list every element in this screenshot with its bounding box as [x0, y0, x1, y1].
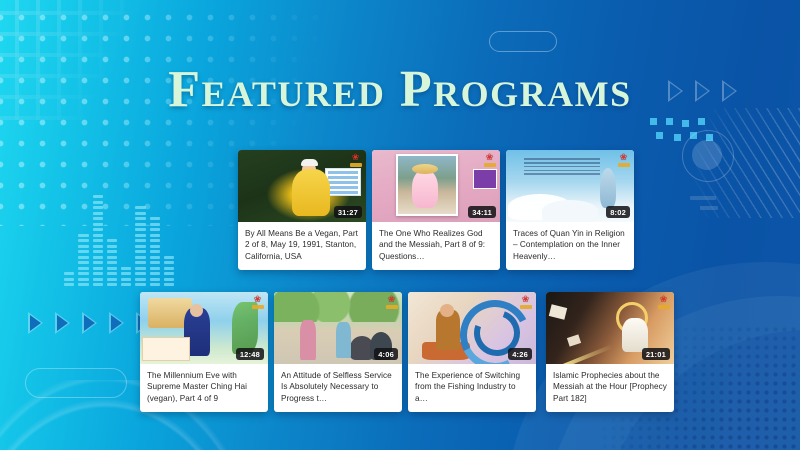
- logo-flower-icon: ❀: [660, 295, 668, 304]
- logo-wordmark: [252, 305, 264, 309]
- equalizer-segment: [135, 223, 145, 226]
- program-card[interactable]: ❀4:06An Attitude of Selfless Service Is …: [274, 292, 402, 412]
- equalizer-segment: [121, 267, 131, 270]
- program-thumbnail[interactable]: ❀8:02: [506, 150, 634, 222]
- featured-programs-screen: Featured Programs ❀31:27By All Means Be …: [0, 0, 800, 450]
- equalizer-segment: [64, 272, 74, 275]
- program-card-body: The One Who Realizes God and the Messiah…: [372, 222, 500, 270]
- logo-wordmark: [658, 305, 670, 309]
- logo-flower-icon: ❀: [388, 295, 396, 304]
- artwork-shape: [301, 159, 318, 166]
- equalizer-segment: [150, 267, 160, 270]
- duration-badge: 4:06: [374, 348, 398, 360]
- logo-flower-icon: ❀: [620, 153, 628, 162]
- channel-logo-icon: ❀: [384, 295, 399, 309]
- logo-wordmark: [520, 305, 532, 309]
- square-dot: [650, 118, 657, 125]
- artwork-shape: [412, 170, 438, 208]
- program-card[interactable]: ❀34:11The One Who Realizes God and the M…: [372, 150, 500, 270]
- program-card-body: Islamic Prophecies about the Messiah at …: [546, 364, 674, 412]
- program-thumbnail[interactable]: ❀12:48: [140, 292, 268, 364]
- equalizer-segment: [107, 283, 117, 286]
- logo-wordmark: [484, 163, 496, 167]
- duration-badge: 4:26: [508, 348, 532, 360]
- equalizer-segment: [135, 272, 145, 275]
- equalizer-segment: [93, 267, 103, 270]
- logo-flower-icon: ❀: [486, 153, 494, 162]
- equalizer-segment: [93, 278, 103, 281]
- equalizer-segment: [135, 267, 145, 270]
- artwork-shape: [524, 156, 600, 186]
- equalizer-segment: [78, 256, 88, 259]
- equalizer-segment: [164, 283, 174, 286]
- duration-badge: 12:48: [236, 348, 264, 360]
- channel-logo-icon: ❀: [518, 295, 533, 309]
- channel-logo-icon: ❀: [250, 295, 265, 309]
- equalizer-segment: [135, 206, 145, 209]
- equalizer-segment: [164, 278, 174, 281]
- equalizer-segment: [78, 283, 88, 286]
- equalizer-segment: [107, 272, 117, 275]
- program-card[interactable]: ❀12:48The Millennium Eve with Supreme Ma…: [140, 292, 268, 412]
- equalizer-segment: [78, 250, 88, 253]
- program-card-body: Traces of Quan Yin in Religion – Contemp…: [506, 222, 634, 270]
- equalizer-column: [93, 195, 103, 286]
- program-thumbnail[interactable]: ❀21:01: [546, 292, 674, 364]
- program-card[interactable]: ❀8:02Traces of Quan Yin in Religion – Co…: [506, 150, 634, 270]
- equalizer-segment: [93, 212, 103, 215]
- program-title: By All Means Be a Vegan, Part 2 of 8, Ma…: [245, 228, 359, 262]
- equalizer-segment: [78, 278, 88, 281]
- artwork-shape: [142, 337, 190, 361]
- equalizer-segment: [164, 267, 174, 270]
- logo-wordmark: [618, 163, 630, 167]
- play-triangle-icon: [82, 312, 97, 334]
- play-triangle-icon: [55, 312, 70, 334]
- artwork-shape: [325, 168, 361, 196]
- equalizer-segment: [135, 239, 145, 242]
- equalizer-segment: [135, 261, 145, 264]
- equalizer-segment: [93, 245, 103, 248]
- circle-ring-decoration: [682, 130, 734, 182]
- equalizer-segment: [78, 239, 88, 242]
- equalizer-segment: [150, 234, 160, 237]
- equalizer-segment: [121, 278, 131, 281]
- artwork-shape: [622, 318, 648, 352]
- program-title: An Attitude of Selfless Service Is Absol…: [281, 370, 395, 404]
- program-thumbnail[interactable]: ❀31:27: [238, 150, 366, 222]
- equalizer-segment: [135, 234, 145, 237]
- equalizer-segment: [164, 272, 174, 275]
- program-thumbnail[interactable]: ❀4:26: [408, 292, 536, 364]
- equalizer-segment: [150, 261, 160, 264]
- equalizer-segment: [78, 272, 88, 275]
- square-dots-decoration: [650, 118, 720, 152]
- equalizer-segment: [93, 283, 103, 286]
- equalizer-segment: [135, 245, 145, 248]
- equalizer-segment: [150, 239, 160, 242]
- logo-flower-icon: ❀: [522, 295, 530, 304]
- artwork-shape: [567, 334, 581, 346]
- program-card-body: The Millennium Eve with Supreme Master C…: [140, 364, 268, 412]
- program-card-body: An Attitude of Selfless Service Is Absol…: [274, 364, 402, 412]
- duration-badge: 34:11: [468, 206, 496, 218]
- equalizer-segment: [107, 250, 117, 253]
- circle-fill-decoration: [692, 140, 722, 170]
- equalizer-segment: [150, 272, 160, 275]
- channel-logo-icon: ❀: [348, 153, 363, 167]
- channel-logo-icon: ❀: [616, 153, 631, 167]
- program-card[interactable]: ❀21:01Islamic Prophecies about the Messi…: [546, 292, 674, 412]
- equalizer-segment: [150, 250, 160, 253]
- equalizer-segment: [93, 201, 103, 204]
- square-dot: [706, 134, 713, 141]
- dash-decoration: [700, 206, 718, 210]
- equalizer-segment: [135, 278, 145, 281]
- program-card[interactable]: ❀31:27By All Means Be a Vegan, Part 2 of…: [238, 150, 366, 270]
- equalizer-segment: [121, 283, 131, 286]
- equalizer-segment: [135, 256, 145, 259]
- equalizer-segment: [93, 217, 103, 220]
- program-thumbnail[interactable]: ❀4:06: [274, 292, 402, 364]
- equalizer-segment: [93, 256, 103, 259]
- equalizer-column: [135, 206, 145, 286]
- program-title: The Experience of Switching from the Fis…: [415, 370, 529, 404]
- program-thumbnail[interactable]: ❀34:11: [372, 150, 500, 222]
- artwork-shape: [190, 304, 203, 317]
- logo-wordmark: [350, 163, 362, 167]
- program-card-body: By All Means Be a Vegan, Part 2 of 8, Ma…: [238, 222, 366, 270]
- artwork-shape: [542, 200, 598, 222]
- channel-logo-icon: ❀: [482, 153, 497, 167]
- equalizer-segment: [107, 278, 117, 281]
- equalizer-segment: [93, 206, 103, 209]
- artwork-shape: [563, 344, 613, 364]
- artwork-shape: [300, 320, 316, 360]
- equalizer-column: [164, 256, 174, 287]
- logo-flower-icon: ❀: [254, 295, 262, 304]
- equalizer-column: [107, 239, 117, 286]
- artwork-shape: [232, 302, 258, 354]
- equalizer-segment: [164, 256, 174, 259]
- equalizer-segment: [107, 267, 117, 270]
- equalizer-segment: [93, 234, 103, 237]
- play-triangle-icon: [109, 312, 124, 334]
- program-title: The One Who Realizes God and the Messiah…: [379, 228, 493, 262]
- diagonal-hatch-decoration: [686, 108, 800, 218]
- artwork-shape: [549, 304, 567, 320]
- square-dot: [656, 132, 663, 139]
- equalizer-segment: [150, 228, 160, 231]
- equalizer-segment: [150, 278, 160, 281]
- square-dot: [690, 132, 697, 139]
- logo-wordmark: [386, 305, 398, 309]
- equalizer-segment: [121, 272, 131, 275]
- artwork-shape: [412, 164, 438, 174]
- dash-decoration: [690, 196, 716, 200]
- program-title: Islamic Prophecies about the Messiah at …: [553, 370, 667, 404]
- equalizer-segment: [164, 261, 174, 264]
- equalizer-segment: [93, 250, 103, 253]
- equalizer-segment: [135, 217, 145, 220]
- equalizer-segment: [78, 234, 88, 237]
- equalizer-segment: [150, 223, 160, 226]
- equalizer-segment: [64, 278, 74, 281]
- program-title: Traces of Quan Yin in Religion – Contemp…: [513, 228, 627, 262]
- equalizer-segment: [93, 272, 103, 275]
- square-dot: [682, 120, 689, 127]
- logo-flower-icon: ❀: [352, 153, 360, 162]
- duration-badge: 8:02: [606, 206, 630, 218]
- equalizer-bars-decoration: [64, 178, 174, 286]
- equalizer-segment: [107, 239, 117, 242]
- page-title: Featured Programs: [0, 60, 800, 119]
- equalizer-segment: [107, 261, 117, 264]
- equalizer-column: [121, 267, 131, 287]
- equalizer-segment: [78, 261, 88, 264]
- artwork-shape: [274, 292, 402, 322]
- artwork-shape: [440, 304, 454, 317]
- equalizer-segment: [107, 245, 117, 248]
- pill-outline-bottom: [25, 368, 127, 398]
- equalizer-segment: [78, 267, 88, 270]
- play-triangle-row-left: [28, 312, 151, 334]
- artwork-shape: [473, 169, 497, 189]
- equalizer-segment: [93, 223, 103, 226]
- channel-logo-icon: ❀: [656, 295, 671, 309]
- program-card[interactable]: ❀4:26The Experience of Switching from th…: [408, 292, 536, 412]
- equalizer-column: [150, 217, 160, 286]
- artwork-shape: [336, 322, 351, 358]
- equalizer-segment: [107, 256, 117, 259]
- equalizer-segment: [135, 212, 145, 215]
- square-dot: [674, 134, 681, 141]
- equalizer-segment: [93, 195, 103, 198]
- equalizer-column: [78, 234, 88, 287]
- equalizer-segment: [135, 228, 145, 231]
- equalizer-segment: [78, 245, 88, 248]
- equalizer-segment: [93, 239, 103, 242]
- square-dot: [698, 118, 705, 125]
- play-triangle-icon: [28, 312, 43, 334]
- equalizer-segment: [150, 256, 160, 259]
- equalizer-segment: [150, 245, 160, 248]
- equalizer-segment: [150, 217, 160, 220]
- square-dot: [666, 118, 673, 125]
- equalizer-column: [64, 272, 74, 286]
- program-card-body: The Experience of Switching from the Fis…: [408, 364, 536, 412]
- program-title: The Millennium Eve with Supreme Master C…: [147, 370, 261, 404]
- equalizer-segment: [150, 283, 160, 286]
- duration-badge: 21:01: [642, 348, 670, 360]
- equalizer-segment: [64, 283, 74, 286]
- equalizer-segment: [93, 261, 103, 264]
- duration-badge: 31:27: [334, 206, 362, 218]
- equalizer-segment: [135, 250, 145, 253]
- equalizer-segment: [93, 228, 103, 231]
- pill-outline-top: [489, 31, 557, 52]
- artwork-shape: [600, 168, 616, 208]
- equalizer-segment: [135, 283, 145, 286]
